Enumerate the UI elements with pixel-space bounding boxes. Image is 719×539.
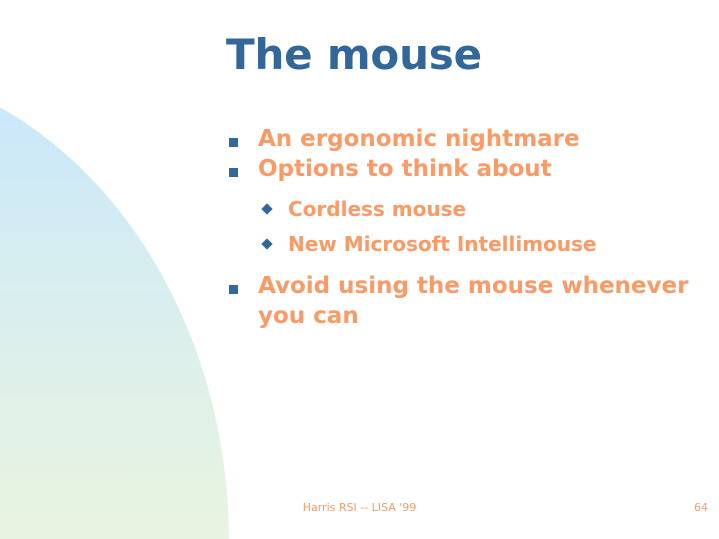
sub-bullet-text: New Microsoft Intellimouse — [288, 229, 696, 259]
slide-body: An ergonomic nightmare Options to think … — [226, 124, 696, 331]
gradient-ellipse-decoration — [0, 62, 229, 539]
bullet-text: An ergonomic nightmare — [258, 124, 696, 154]
square-bullet-icon — [226, 271, 258, 301]
sub-bullet-text: Cordless mouse — [288, 194, 696, 224]
slide-canvas: The mouse An ergonomic nightmare Options… — [0, 0, 719, 539]
bullet-item: Options to think about — [226, 154, 696, 184]
diamond-bullet-icon — [258, 229, 288, 259]
square-bullet-icon — [226, 154, 258, 184]
page-number: 64 — [694, 501, 708, 514]
bullet-text: Options to think about — [258, 154, 696, 184]
slide-title: The mouse — [226, 33, 696, 77]
bullet-item: Avoid using the mouse whenever you can — [226, 271, 696, 331]
sub-bullet-item: New Microsoft Intellimouse — [258, 229, 696, 259]
bullet-text: Avoid using the mouse whenever you can — [258, 271, 696, 331]
sub-bullet-item: Cordless mouse — [258, 194, 696, 224]
footer-note: Harris RSI -- LISA '99 — [0, 501, 719, 514]
bullet-item: An ergonomic nightmare — [226, 124, 696, 154]
square-bullet-icon — [226, 124, 258, 154]
diamond-bullet-icon — [258, 194, 288, 224]
